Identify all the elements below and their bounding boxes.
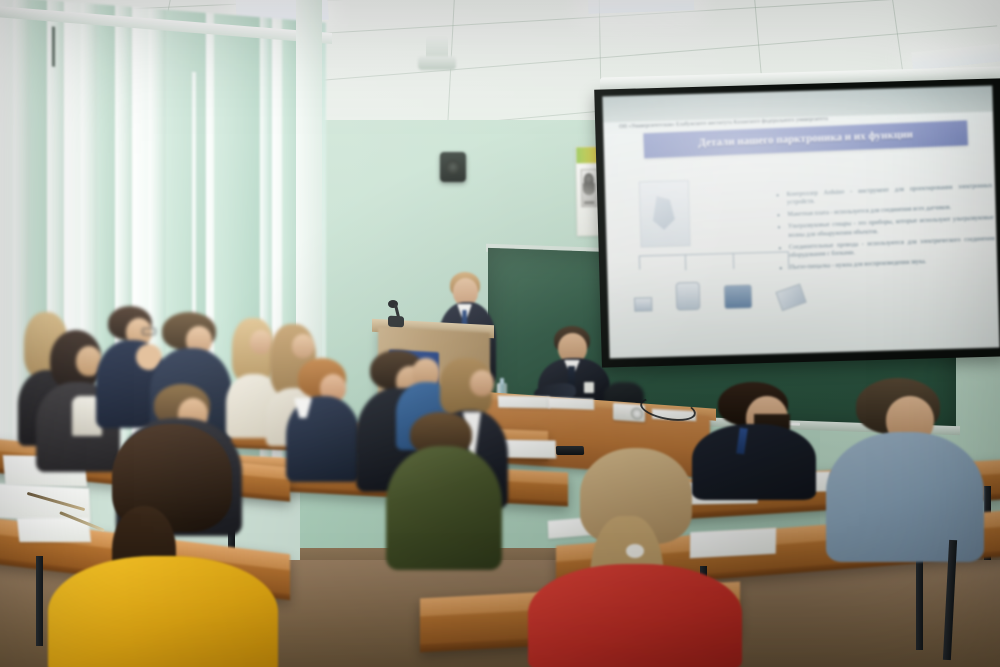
yellow-sweater-torso [48,556,278,667]
red-jacket-torso [528,564,742,667]
projector-icon [418,56,456,70]
panelist-badge [584,382,594,393]
desk-leg-l1 [36,556,43,646]
person-student-redhair [288,358,360,480]
head [292,334,314,358]
person-student-yellow-sweater [48,424,278,667]
head [470,370,494,396]
person-student-green-coat [386,412,502,568]
presentation-slide: ОП «Университетская» Елабужского институ… [602,86,999,359]
person-adult-blue-shirt [826,378,986,562]
green-coat-torso [386,446,502,570]
torso [692,424,816,500]
speaker-icon [440,152,466,182]
person-adult-bearded [692,382,820,500]
slide-bullet-list: Контроллер Arduino - инструмент для прое… [776,182,995,276]
light-blue-shirt-torso [826,432,984,562]
classroom-photo: ОП «Университетская» Елабужского институ… [0,0,1000,667]
paper-on-panel-table-2 [548,397,594,410]
slide-image-arduino [639,180,691,247]
hair-tie [626,544,644,558]
projection-screen: ОП «Университетская» Елабужского институ… [594,78,1000,367]
microphone-base [388,316,404,328]
